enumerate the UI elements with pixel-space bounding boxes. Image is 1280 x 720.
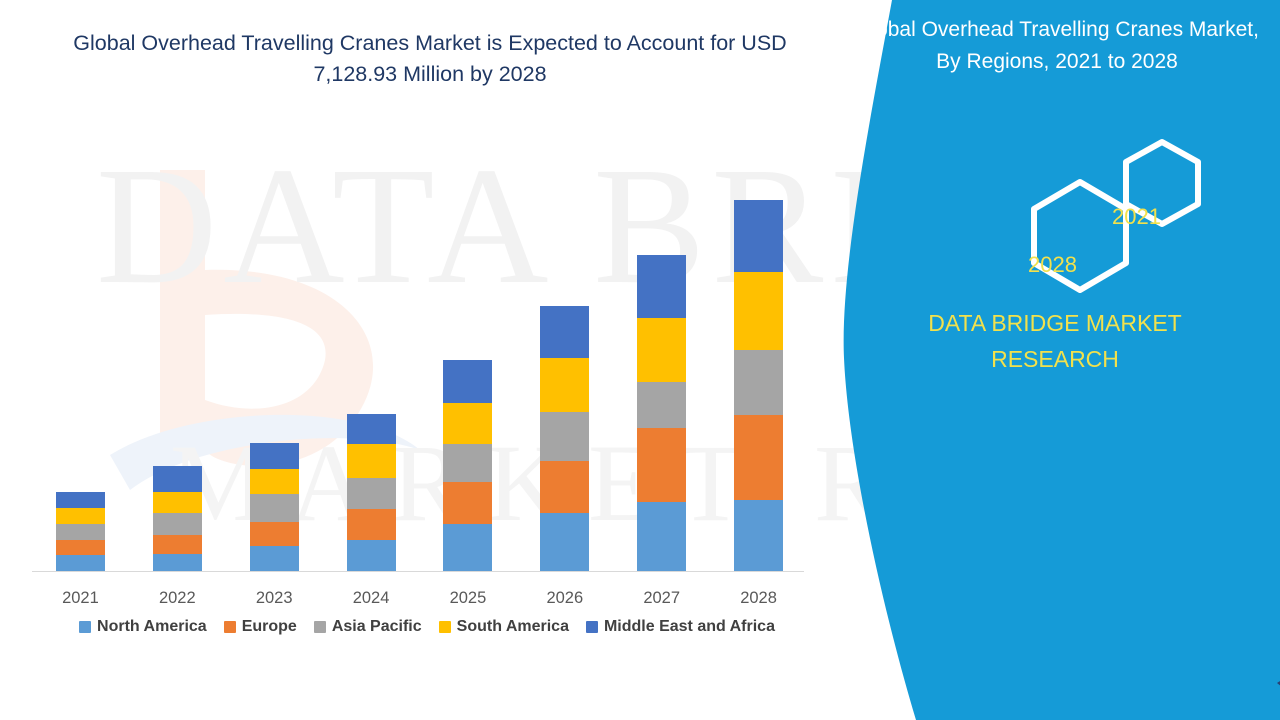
- bar-segment-south-america: [250, 469, 299, 494]
- stacked-bar: [734, 200, 783, 571]
- stacked-bar: [56, 492, 105, 571]
- legend-label: Europe: [242, 618, 297, 636]
- bar-segment-middle-east-and-africa: [347, 414, 396, 444]
- bar-column-2021: [33, 150, 128, 571]
- legend-swatch-icon: [79, 621, 91, 633]
- stacked-bar: [347, 414, 396, 571]
- bar-segment-middle-east-and-africa: [250, 443, 299, 469]
- bar-segment-middle-east-and-africa: [153, 466, 202, 492]
- bar-segment-europe: [56, 540, 105, 555]
- bar-segment-middle-east-and-africa: [56, 492, 105, 508]
- bar-segment-middle-east-and-africa: [540, 306, 589, 358]
- legend-label: Middle East and Africa: [604, 618, 775, 636]
- bar-segment-asia-pacific: [56, 524, 105, 540]
- bar-segment-south-america: [540, 358, 589, 412]
- chart-title: Global Overhead Travelling Cranes Market…: [45, 28, 815, 90]
- chart-legend: North AmericaEuropeAsia PacificSouth Ame…: [32, 618, 822, 636]
- bar-segment-middle-east-and-africa: [443, 360, 492, 403]
- x-tick-2028: 2028: [711, 589, 806, 608]
- chart-region: Global Overhead Travelling Cranes Market…: [0, 0, 860, 720]
- infographic-root: DATA BRIDGE MARKET RESEARCH Global Overh…: [0, 0, 1280, 720]
- bar-segment-north-america: [56, 555, 105, 571]
- bar-column-2022: [130, 150, 225, 571]
- bar-segment-asia-pacific: [637, 382, 686, 428]
- bar-segment-europe: [637, 428, 686, 502]
- bar-segment-europe: [443, 482, 492, 524]
- bar-segment-europe: [347, 509, 396, 540]
- bar-segment-south-america: [734, 272, 783, 350]
- bar-segment-south-america: [153, 492, 202, 513]
- legend-item-south-america[interactable]: South America: [439, 618, 569, 636]
- hexagon-group: 2021 2028: [930, 130, 1230, 320]
- bar-segment-asia-pacific: [540, 412, 589, 461]
- bar-segment-europe: [734, 415, 783, 500]
- bar-column-2028: [711, 150, 806, 571]
- x-tick-2022: 2022: [130, 589, 225, 608]
- bar-segment-north-america: [443, 524, 492, 571]
- bar-column-2024: [324, 150, 419, 571]
- legend-item-europe[interactable]: Europe: [224, 618, 297, 636]
- bar-chart-plot: [32, 150, 807, 571]
- x-tick-2023: 2023: [227, 589, 322, 608]
- bar-segment-north-america: [153, 554, 202, 571]
- legend-item-middle-east-and-africa[interactable]: Middle East and Africa: [586, 618, 775, 636]
- stacked-bar: [540, 306, 589, 571]
- bar-segment-south-america: [637, 318, 686, 382]
- bar-segment-north-america: [540, 513, 589, 571]
- x-tick-2024: 2024: [324, 589, 419, 608]
- legend-item-asia-pacific[interactable]: Asia Pacific: [314, 618, 422, 636]
- bar-segment-south-america: [443, 403, 492, 444]
- bar-segment-europe: [250, 522, 299, 546]
- bar-column-2023: [227, 150, 322, 571]
- bar-segment-asia-pacific: [250, 494, 299, 522]
- hexagon-label-2028: 2028: [1028, 252, 1077, 278]
- stacked-bar: [637, 255, 686, 571]
- panel-title: Global Overhead Travelling Cranes Market…: [852, 14, 1262, 78]
- legend-label: South America: [457, 618, 569, 636]
- stacked-bar: [153, 466, 202, 571]
- legend-label: Asia Pacific: [332, 618, 422, 636]
- bar-segment-europe: [540, 461, 589, 513]
- bar-segment-asia-pacific: [347, 478, 396, 509]
- bar-column-2027: [614, 150, 709, 571]
- bar-segment-middle-east-and-africa: [734, 200, 783, 272]
- hexagon-icons: [930, 130, 1230, 320]
- bar-segment-north-america: [637, 502, 686, 571]
- x-tick-2021: 2021: [33, 589, 128, 608]
- legend-swatch-icon: [586, 621, 598, 633]
- bar-column-2025: [420, 150, 515, 571]
- x-axis-tick-labels: 20212022202320242025202620272028: [32, 589, 807, 608]
- stacked-bar: [250, 443, 299, 571]
- legend-swatch-icon: [439, 621, 451, 633]
- bar-segment-middle-east-and-africa: [637, 255, 686, 318]
- panel-brand-line2: RESEARCH: [840, 341, 1270, 377]
- company-logo: DATA BRIDGE MARKET RESEARCH: [1275, 633, 1280, 703]
- bar-segment-north-america: [250, 546, 299, 571]
- legend-label: North America: [97, 618, 207, 636]
- bar-segment-south-america: [56, 508, 105, 524]
- panel-brand-line1: DATA BRIDGE MARKET: [840, 305, 1270, 341]
- x-tick-2025: 2025: [420, 589, 515, 608]
- bar-segment-north-america: [734, 500, 783, 571]
- panel-brand-name: DATA BRIDGE MARKET RESEARCH: [840, 305, 1270, 377]
- bar-segment-asia-pacific: [443, 444, 492, 482]
- bar-segment-north-america: [347, 540, 396, 571]
- stacked-bar: [443, 360, 492, 571]
- legend-swatch-icon: [224, 621, 236, 633]
- bar-segment-south-america: [347, 444, 396, 478]
- legend-item-north-america[interactable]: North America: [79, 618, 207, 636]
- right-branding-panel: Global Overhead Travelling Cranes Market…: [830, 0, 1280, 720]
- legend-swatch-icon: [314, 621, 326, 633]
- bar-segment-asia-pacific: [153, 513, 202, 535]
- x-axis-line: [32, 571, 804, 572]
- hexagon-label-2021: 2021: [1112, 204, 1161, 230]
- bar-segment-europe: [153, 535, 202, 554]
- logo-mark-icon: [1275, 633, 1280, 703]
- x-tick-2027: 2027: [614, 589, 709, 608]
- bar-segment-asia-pacific: [734, 350, 783, 415]
- x-tick-2026: 2026: [517, 589, 612, 608]
- bar-column-2026: [517, 150, 612, 571]
